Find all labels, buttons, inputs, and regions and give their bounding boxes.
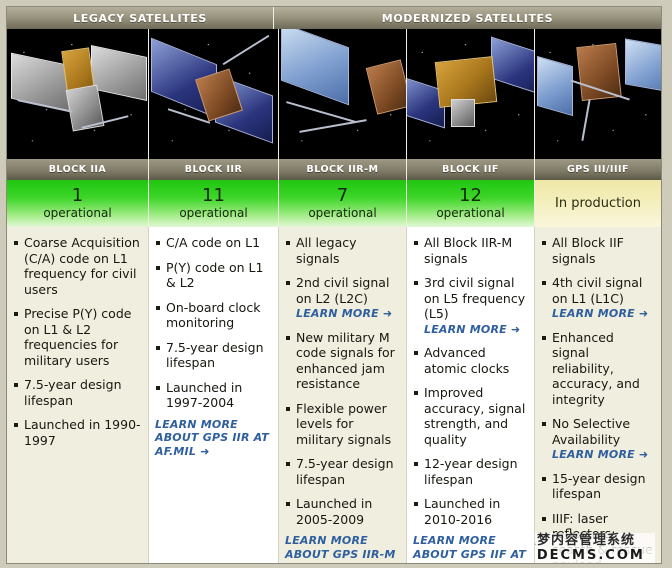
satellite-photo-row: [7, 29, 661, 159]
learn-more-label: LEARN MORE: [296, 307, 379, 320]
learn-more-label: LEARN MORE ABOUT GPS IIF AT AF.MIL: [413, 534, 526, 564]
satellite-photo-block-iir: [149, 29, 279, 159]
feature-text: All Block IIR-M signals: [424, 235, 512, 266]
production-label: In production: [555, 196, 641, 211]
operational-label: operational: [179, 206, 247, 220]
list-item: Launched in 1990-1997: [13, 417, 141, 448]
operational-count: 1: [72, 187, 83, 205]
satellite-photo-block-iia: [7, 29, 149, 159]
arrow-right-icon: ➜: [349, 561, 358, 564]
learn-more-label: LEARN MORE: [552, 448, 635, 461]
learn-more-label: LEARN MORE: [552, 307, 635, 320]
learn-more-label: LEARN MORE ABOUT GPS IIR AT AF.MIL: [155, 418, 269, 458]
feature-text: Launched in 1990-1997: [24, 417, 141, 448]
column-header-block-iir: BLOCK IIR: [149, 159, 279, 180]
block-name-row: BLOCK IIA BLOCK IIR BLOCK IIR-M BLOCK II…: [7, 159, 661, 180]
list-item: Launched in 2010-2016: [413, 496, 527, 527]
feature-text: Enhanced signal reliability, accuracy, a…: [552, 330, 640, 407]
list-item: No Selective Availability LEARN MORE ➜: [541, 416, 654, 462]
feature-text: New military M code signals for enhanced…: [296, 330, 395, 392]
satellite-photo-block-iirm: [279, 29, 407, 159]
column-header-block-iirm: BLOCK IIR-M: [279, 159, 407, 180]
feature-text: 12-year design lifespan: [424, 456, 518, 487]
list-item: 7.5-year design lifespan: [285, 456, 399, 487]
feature-text: IIIF: laser reflectors; search & rescue …: [552, 511, 653, 565]
list-item: IIIF: laser reflectors; search & rescue …: [541, 511, 654, 565]
status-block-iif: 12 operational: [407, 180, 535, 227]
list-item: Launched in 2005-2009: [285, 496, 399, 527]
learn-more-link-sa[interactable]: LEARN MORE ➜: [552, 448, 654, 462]
feature-text: Improved accuracy, signal strength, and …: [424, 385, 525, 447]
learn-more-link-l2c[interactable]: LEARN MORE ➜: [296, 307, 399, 321]
feature-text: Advanced atomic clocks: [424, 345, 509, 376]
operational-label: operational: [436, 206, 504, 220]
arrow-right-icon: ➜: [639, 307, 648, 320]
feature-text: 2nd civil signal on L2 (L2C): [296, 275, 389, 306]
operational-count: 12: [459, 187, 482, 205]
list-item: P(Y) code on L1 & L2: [155, 260, 271, 291]
column-header-block-iia: BLOCK IIA: [7, 159, 149, 180]
group-header-row: LEGACY SATELLITES MODERNIZED SATELLITES: [7, 7, 661, 29]
list-item: All Block IIR-M signals: [413, 235, 527, 266]
feature-text: 3rd civil signal on L5 frequency (L5): [424, 275, 525, 321]
feature-text: All Block IIF signals: [552, 235, 624, 266]
operational-label: operational: [43, 206, 111, 220]
list-item: All legacy signals: [285, 235, 399, 266]
feature-text: 4th civil signal on L1 (L1C): [552, 275, 642, 306]
status-row: 1 operational 11 operational 7 operation…: [7, 180, 661, 227]
list-item: Enhanced signal reliability, accuracy, a…: [541, 330, 654, 408]
solar-panel: [625, 38, 661, 93]
arrow-right-icon: ➜: [639, 448, 648, 461]
list-item: 15-year design lifespan: [541, 471, 654, 502]
list-item: New military M code signals for enhanced…: [285, 330, 399, 392]
feature-list: C/A code on L1 P(Y) code on L1 & L2 On-b…: [155, 235, 271, 411]
feature-text: C/A code on L1: [166, 235, 260, 250]
list-item: 4th civil signal on L1 (L1C) LEARN MORE …: [541, 275, 654, 321]
feature-text: Launched in 1997-2004: [166, 380, 242, 411]
feature-column-block-iif: All Block IIR-M signals 3rd civil signal…: [407, 227, 535, 564]
operational-label: operational: [308, 206, 376, 220]
arrow-right-icon: ➜: [458, 561, 467, 564]
feature-column-block-iir: C/A code on L1 P(Y) code on L1 & L2 On-b…: [149, 227, 279, 564]
feature-text: 7.5-year design lifespan: [24, 377, 122, 408]
feature-text: Launched in 2005-2009: [296, 496, 372, 527]
operational-count: 11: [202, 187, 225, 205]
learn-more-link-iif[interactable]: LEARN MORE ABOUT GPS IIF AT AF.MIL ➜: [413, 534, 527, 564]
learn-more-link-iirm[interactable]: LEARN MORE ABOUT GPS IIR-M AT AF.MIL ➜: [285, 534, 399, 564]
list-item: 3rd civil signal on L5 frequency (L5) LE…: [413, 275, 527, 336]
arrow-right-icon: ➜: [511, 323, 520, 336]
feature-text: On-board clock monitoring: [166, 300, 260, 331]
list-item: 7.5-year design lifespan: [13, 377, 141, 408]
feature-text: Launched in 2010-2016: [424, 496, 500, 527]
status-block-iirm: 7 operational: [279, 180, 407, 227]
list-item: Precise P(Y) code on L1 & L2 frequencies…: [13, 306, 141, 368]
learn-more-label: LEARN MORE ABOUT GPS IIR-M AT AF.MIL: [285, 534, 396, 564]
column-header-gps-iii: GPS III/IIIF: [535, 159, 661, 180]
group-header-legacy: LEGACY SATELLITES: [7, 7, 274, 29]
feature-columns: Coarse Acquisition (C/A) code on L1 freq…: [7, 227, 661, 564]
feature-text: P(Y) code on L1 & L2: [166, 260, 263, 291]
feature-text: 7.5-year design lifespan: [166, 340, 264, 371]
feature-list: All Block IIF signals 4th civil signal o…: [541, 235, 654, 564]
learn-more-link-l5[interactable]: LEARN MORE ➜: [424, 323, 527, 337]
list-item: Improved accuracy, signal strength, and …: [413, 385, 527, 447]
status-gps-iii: In production: [535, 180, 661, 227]
list-item: All Block IIF signals: [541, 235, 654, 266]
arrow-right-icon: ➜: [200, 445, 209, 458]
feature-text: 15-year design lifespan: [552, 471, 646, 502]
solar-panel: [537, 56, 573, 116]
feature-column-block-iia: Coarse Acquisition (C/A) code on L1 freq…: [7, 227, 149, 564]
list-item: Launched in 1997-2004: [155, 380, 271, 411]
learn-more-link-iir[interactable]: LEARN MORE ABOUT GPS IIR AT AF.MIL ➜: [155, 418, 271, 459]
list-item: 2nd civil signal on L2 (L2C) LEARN MORE …: [285, 275, 399, 321]
status-block-iir: 11 operational: [149, 180, 279, 227]
feature-text: All legacy signals: [296, 235, 357, 266]
column-header-block-iif: BLOCK IIF: [407, 159, 535, 180]
list-item: C/A code on L1: [155, 235, 271, 251]
list-item: On-board clock monitoring: [155, 300, 271, 331]
status-block-iia: 1 operational: [7, 180, 149, 227]
comparison-table: LEGACY SATELLITES MODERNIZED SATELLITES: [6, 6, 662, 564]
feature-text: Coarse Acquisition (C/A) code on L1 freq…: [24, 235, 140, 297]
learn-more-link-l1c[interactable]: LEARN MORE ➜: [552, 307, 654, 321]
feature-column-block-iirm: All legacy signals 2nd civil signal on L…: [279, 227, 407, 564]
feature-text: No Selective Availability: [552, 416, 630, 447]
feature-text: Flexible power levels for military signa…: [296, 401, 391, 447]
learn-more-label: LEARN MORE: [424, 323, 507, 336]
payload-module: [451, 99, 475, 127]
list-item: Advanced atomic clocks: [413, 345, 527, 376]
operational-count: 7: [337, 187, 348, 205]
feature-list: All Block IIR-M signals 3rd civil signal…: [413, 235, 527, 527]
feature-text: Precise P(Y) code on L1 & L2 frequencies…: [24, 306, 131, 368]
list-item: 12-year design lifespan: [413, 456, 527, 487]
list-item: 7.5-year design lifespan: [155, 340, 271, 371]
list-item: Coarse Acquisition (C/A) code on L1 freq…: [13, 235, 141, 297]
arrow-right-icon: ➜: [383, 307, 392, 320]
satellite-photo-block-iif: [407, 29, 535, 159]
satellite-bus: [576, 43, 621, 101]
infographic-frame: LEGACY SATELLITES MODERNIZED SATELLITES: [0, 0, 672, 568]
feature-list: Coarse Acquisition (C/A) code on L1 freq…: [13, 235, 141, 448]
list-item: Flexible power levels for military signa…: [285, 401, 399, 448]
satellite-photo-gps-iii: [535, 29, 661, 159]
group-header-modernized: MODERNIZED SATELLITES: [274, 7, 661, 29]
feature-list: All legacy signals 2nd civil signal on L…: [285, 235, 399, 527]
feature-column-gps-iii: All Block IIF signals 4th civil signal o…: [535, 227, 661, 564]
feature-text: 7.5-year design lifespan: [296, 456, 394, 487]
